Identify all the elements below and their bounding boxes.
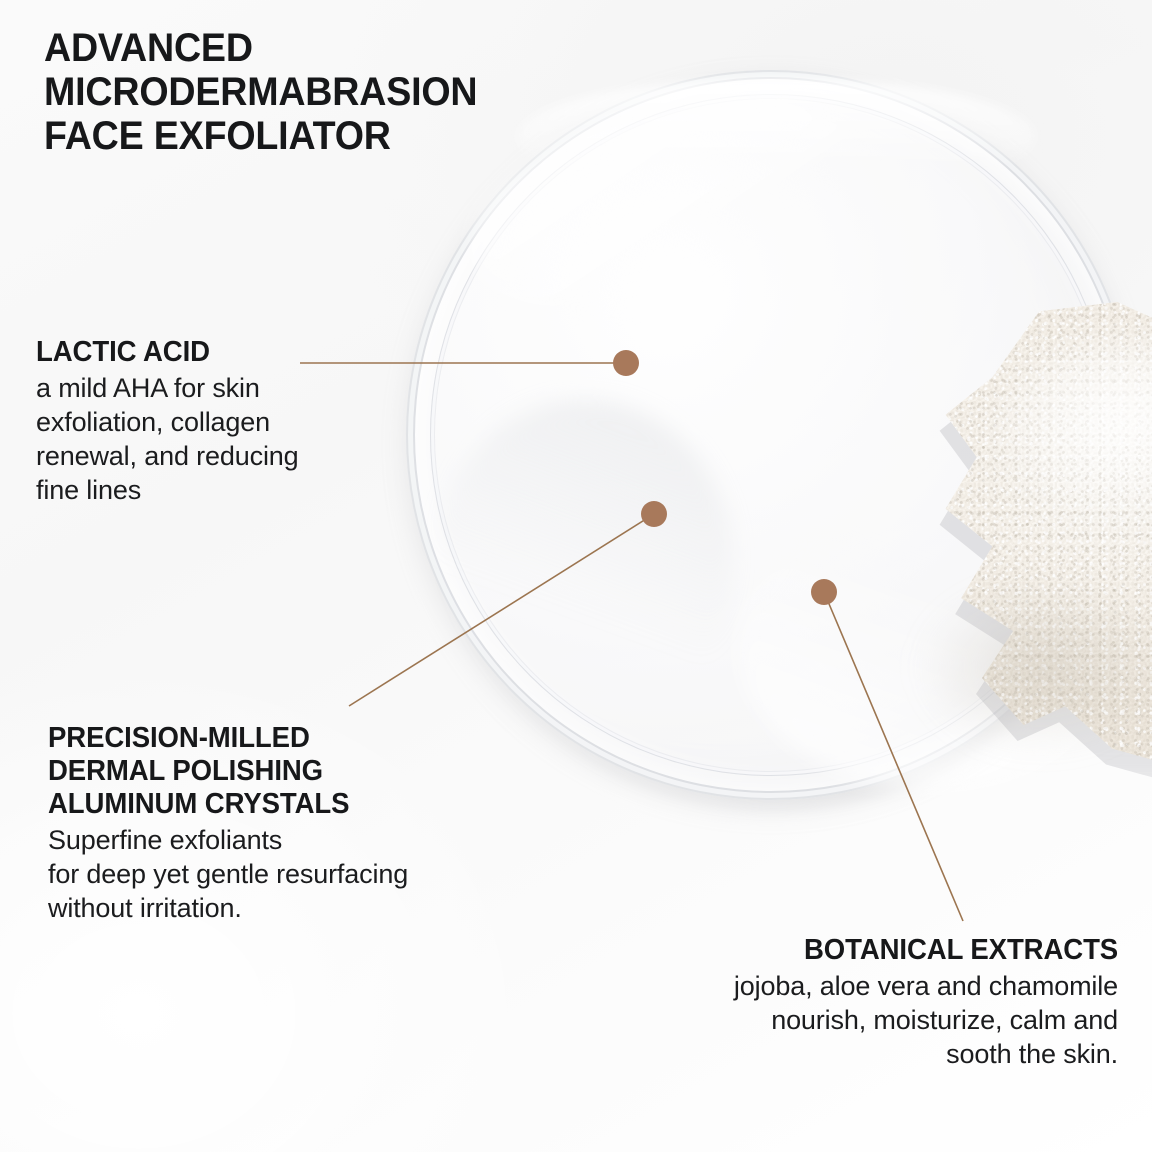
callout-lactic-acid-title: LACTIC ACID: [36, 336, 285, 369]
callout-precision-milled-body-line-3: without irritation.: [48, 891, 408, 925]
callout-precision-milled-body-line-1: Superfine exfoliants: [48, 823, 408, 857]
page-title-line-3: FACE EXFOLIATOR: [44, 114, 477, 158]
callout-botanical-extracts-body: jojoba, aloe vera and chamomile nourish,…: [734, 969, 1118, 1071]
callout-lactic-acid-body: a mild AHA for skin exfoliation, collage…: [36, 371, 299, 507]
callout-botanical-extracts-title: BOTANICAL EXTRACTS: [753, 934, 1118, 967]
page-title-line-2: MICRODERMABRASION: [44, 70, 477, 114]
callout-lactic-acid-body-line-2: exfoliation, collagen: [36, 405, 299, 439]
callout-precision-milled-body: Superfine exfoliants for deep yet gentle…: [48, 823, 408, 925]
callout-precision-milled-title-line-2: DERMAL POLISHING: [48, 755, 390, 788]
callout-lactic-acid-body-line-4: fine lines: [36, 473, 299, 507]
callout-botanical-extracts-body-line-2: nourish, moisturize, calm and: [734, 1003, 1118, 1037]
callout-botanical-extracts-body-line-3: sooth the skin.: [734, 1037, 1118, 1071]
page-title: ADVANCED MICRODERMABRASION FACE EXFOLIAT…: [44, 26, 477, 158]
callout-botanical-extracts: BOTANICAL EXTRACTS jojoba, aloe vera and…: [734, 934, 1118, 1071]
callout-lactic-acid: LACTIC ACID a mild AHA for skin exfoliat…: [36, 336, 299, 507]
infographic-canvas: ADVANCED MICRODERMABRASION FACE EXFOLIAT…: [0, 0, 1152, 1152]
callout-precision-milled-body-line-2: for deep yet gentle resurfacing: [48, 857, 408, 891]
callout-precision-milled-crystals: PRECISION-MILLED DERMAL POLISHING ALUMIN…: [48, 722, 408, 925]
callout-precision-milled-title: PRECISION-MILLED DERMAL POLISHING ALUMIN…: [48, 722, 390, 821]
callout-precision-milled-title-line-1: PRECISION-MILLED: [48, 722, 390, 755]
powder-lowlight: [918, 582, 1152, 752]
callout-lactic-acid-body-line-1: a mild AHA for skin: [36, 371, 299, 405]
callout-botanical-extracts-body-line-1: jojoba, aloe vera and chamomile: [734, 969, 1118, 1003]
callout-lactic-acid-body-line-3: renewal, and reducing: [36, 439, 299, 473]
exfoliant-powder: [878, 302, 1152, 772]
dish-gloss-bottomleft: [434, 400, 734, 730]
page-title-line-1: ADVANCED: [44, 26, 477, 70]
petri-dish: [406, 70, 1142, 806]
callout-precision-milled-title-line-3: ALUMINUM CRYSTALS: [48, 788, 390, 821]
